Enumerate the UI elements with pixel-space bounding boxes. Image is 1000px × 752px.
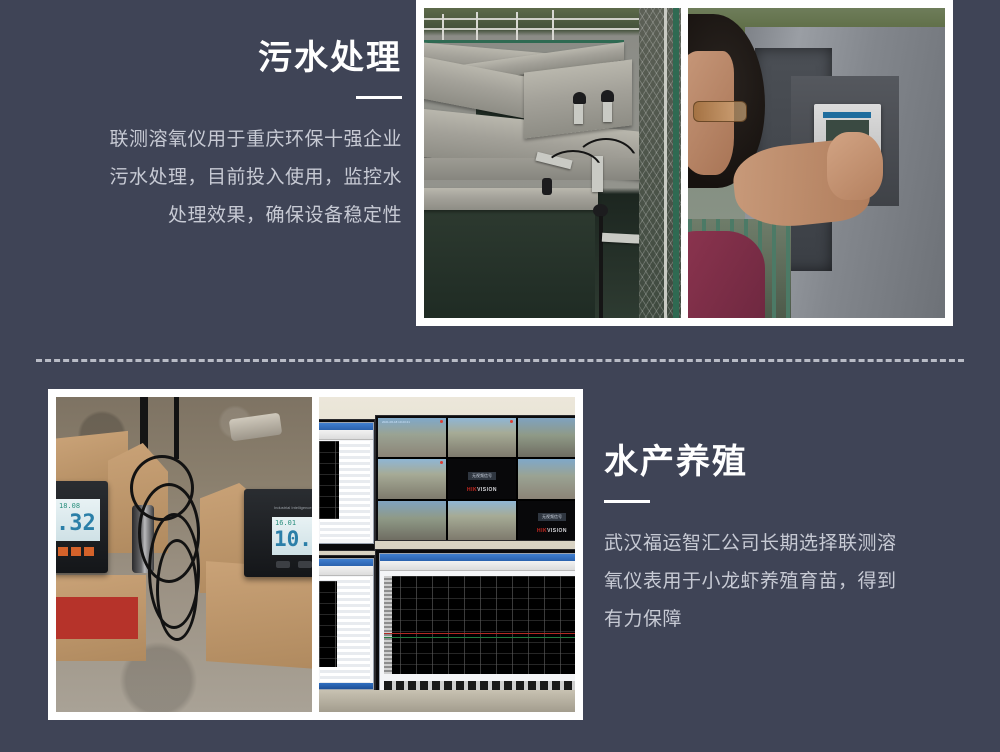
section-aquaculture-body-line-2: 氧仪表用于小龙虾养殖育苗，得到 (604, 563, 964, 601)
section-wastewater-body-line-1: 联测溶氧仪用于重庆环保十强企业 (30, 121, 402, 159)
photo-wastewater-treatment-basins (424, 8, 681, 318)
meter-right: 16.01 10.37 Industrial Intelligence (244, 489, 312, 577)
cctv-cell (448, 501, 516, 540)
section-aquaculture-photo-frame: 18.08 .32 16.01 10.37 Industrial Intelli… (48, 389, 583, 720)
section-wastewater-rule-wrap (30, 96, 402, 99)
cctv-cell (518, 459, 575, 498)
section-aquaculture-body-line-3: 有力保障 (604, 601, 964, 639)
hand (827, 132, 884, 200)
meter-right-brand: Industrial Intelligence (274, 505, 312, 510)
meter-left-value: .32 (56, 513, 96, 535)
section-wastewater-photo-frame (416, 0, 953, 326)
meter-right-value: 10.37 (274, 529, 312, 550)
section-aquaculture-body-line-1: 武汉福运智汇公司长期选择联测溶 (604, 525, 964, 563)
cctv-cell (518, 418, 575, 457)
divider-rule (356, 96, 402, 99)
cctv-cell-no-signal: 无视频信号 HIKVISION (448, 459, 516, 498)
meter-left-secondary: 18.08 (59, 503, 80, 510)
trend-chart (384, 576, 575, 674)
cctv-cell (378, 501, 446, 540)
promo-page: 污水处理 联测溶氧仪用于重庆环保十强企业 污水处理，目前投入使用，监控水 处理效… (0, 0, 1000, 752)
hikvision-logo: HIKVISION (537, 528, 567, 534)
meter-left: 18.08 .32 (56, 481, 108, 573)
hikvision-logo: HIKVISION (467, 487, 497, 493)
photo-technician-adjusting-controller (688, 8, 945, 318)
cctv-monitor: 2021-06-18 10:23:41 无视频信号 HIKVISION (375, 415, 575, 541)
section-wastewater-heading: 污水处理 (30, 36, 402, 80)
photo-monitoring-room-screens: 2021-06-18 10:23:41 无视频信号 HIKVISION (319, 397, 575, 712)
section-aquaculture-heading: 水产养殖 (604, 440, 964, 484)
cctv-cell: 2021-06-18 10:23:41 (378, 418, 446, 457)
cctv-cell (448, 418, 516, 457)
section-wastewater-text: 污水处理 联测溶氧仪用于重庆环保十强企业 污水处理，目前投入使用，监控水 处理效… (30, 36, 402, 235)
divider-rule (604, 500, 650, 503)
section-aquaculture-rule-wrap (604, 500, 964, 503)
cctv-cell (378, 459, 446, 498)
cctv-cell-no-signal: 无视频信号 HIKVISION (518, 501, 575, 540)
meter-right-secondary: 16.01 (275, 520, 296, 527)
scada-monitor (375, 549, 575, 699)
section-aquaculture-text: 水产养殖 武汉福运智汇公司长期选择联测溶 氧仪表用于小龙虾养殖育苗，得到 有力保… (604, 440, 964, 639)
section-wastewater-body-line-3: 处理效果，确保设备稳定性 (30, 197, 402, 235)
section-wastewater-body-line-2: 污水处理，目前投入使用，监控水 (30, 159, 402, 197)
glasses (693, 101, 746, 122)
section-divider (36, 359, 964, 362)
photo-dissolved-oxygen-meters-outdoor: 18.08 .32 16.01 10.37 Industrial Intelli… (56, 397, 312, 712)
